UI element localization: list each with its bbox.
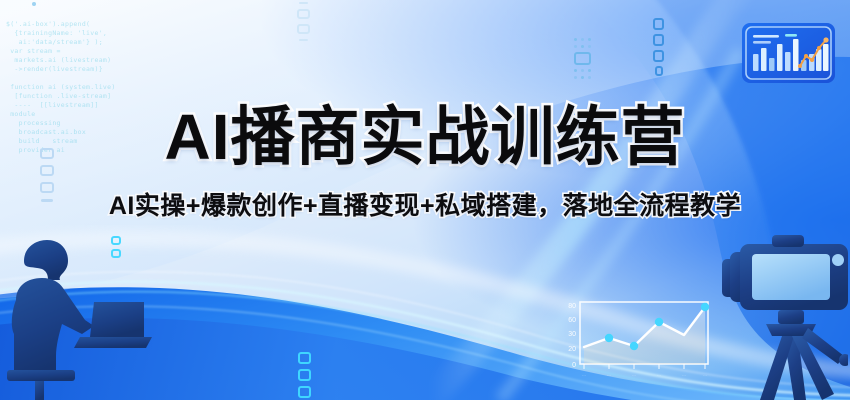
y-tick-60: 60 <box>568 317 576 324</box>
y-tick-30: 30 <box>568 331 576 338</box>
poster-subtitle: AI实操+爆款创作+直播变现+私域搭建，落地全流程教学 <box>0 186 850 222</box>
mini-line-chart: 80 60 30 20 0 --- --- --- --- --- --- <box>548 298 718 390</box>
decorative-squares-midtop <box>297 2 310 41</box>
x-tick-5: --- <box>703 373 708 378</box>
y-tick-80: 80 <box>568 303 576 310</box>
decorative-squares-bottom <box>298 352 311 398</box>
x-tick-1: --- <box>607 373 612 378</box>
poster-title-wrap: AI播商实战训练营 <box>0 100 850 174</box>
decorative-squares-lefttop <box>32 2 36 6</box>
poster-canvas: $('.ai-box').append( {trainingName: 'liv… <box>0 0 850 400</box>
y-tick-20: 20 <box>568 346 576 353</box>
y-tick-0: 0 <box>572 362 576 369</box>
decorative-squares-dots <box>574 38 591 79</box>
x-tick-2: --- <box>632 373 637 378</box>
person-with-laptop-silhouette <box>2 238 162 400</box>
x-tick-0: --- <box>582 373 587 378</box>
analytics-chart-logo-icon <box>741 22 836 84</box>
poster-title: AI播商实战训练营 <box>165 100 686 174</box>
camera-on-tripod-silhouette <box>698 232 848 400</box>
x-tick-3: --- <box>657 373 662 378</box>
chart-y-axis: 80 60 30 20 0 <box>568 303 576 369</box>
x-tick-4: --- <box>682 373 687 378</box>
decorative-squares-righttop <box>653 18 664 76</box>
